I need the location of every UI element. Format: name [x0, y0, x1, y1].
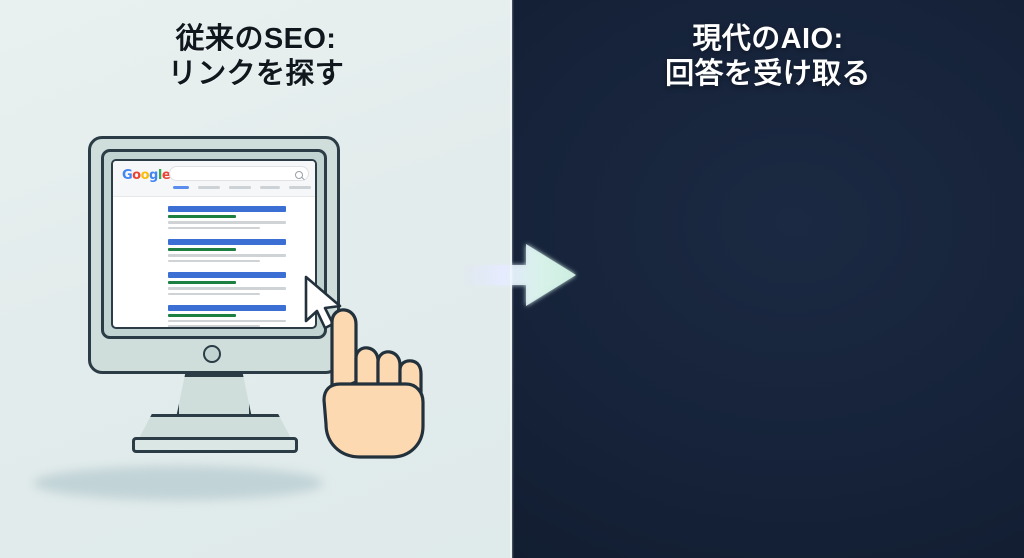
monitor-stand-foot: [132, 437, 298, 453]
monitor-shadow: [33, 466, 323, 500]
browser-screen: Google: [111, 159, 317, 329]
logo-letter: G: [122, 168, 132, 183]
result-snippet-line: [168, 325, 260, 327]
result-url-bar: [168, 215, 236, 218]
result-title-bar[interactable]: [168, 206, 286, 212]
left-panel-title: 従来のSEO: リンクを探す: [0, 22, 512, 93]
logo-letter: g: [149, 168, 158, 183]
monitor-stand-neck: [176, 374, 252, 418]
search-tabs: [173, 186, 311, 189]
google-logo-icon: Google: [122, 168, 170, 183]
search-result-item[interactable]: [168, 239, 315, 262]
result-url-bar: [168, 248, 236, 251]
tab-maps[interactable]: [289, 186, 311, 189]
slide-canvas: 従来のSEO: リンクを探す Google: [0, 0, 1024, 558]
left-panel-traditional-seo: 従来のSEO: リンクを探す Google: [0, 0, 512, 558]
result-url-bar: [168, 314, 236, 317]
result-title-bar[interactable]: [168, 272, 286, 278]
monitor-power-button[interactable]: [203, 345, 221, 363]
search-result-item[interactable]: [168, 272, 315, 295]
tab-videos[interactable]: [229, 186, 251, 189]
result-snippet-line: [168, 287, 286, 289]
monitor-bezel: Google: [101, 149, 327, 339]
search-icon[interactable]: [295, 171, 303, 179]
logo-letter: o: [132, 168, 140, 183]
tab-images[interactable]: [198, 186, 220, 189]
result-snippet-line: [168, 227, 260, 229]
search-input[interactable]: [169, 166, 309, 181]
result-snippet-line: [168, 260, 260, 262]
logo-letter: o: [141, 168, 149, 183]
search-result-item[interactable]: [168, 305, 315, 328]
right-panel-modern-aio: 現代のAIO: 回答を受け取る これも、要約回答をAIによる願いです: [512, 0, 1024, 558]
result-title-bar[interactable]: [168, 239, 286, 245]
result-snippet-line: [168, 221, 286, 223]
search-result-item[interactable]: [168, 206, 315, 229]
result-url-bar: [168, 281, 236, 284]
right-panel-title: 現代のAIO: 回答を受け取る: [512, 22, 1024, 93]
result-snippet-line: [168, 254, 286, 256]
result-snippet-line: [168, 293, 260, 295]
browser-header: Google: [113, 161, 315, 197]
search-results-list: [113, 197, 315, 329]
result-snippet-line: [168, 320, 286, 322]
tab-all[interactable]: [173, 186, 189, 189]
result-title-bar[interactable]: [168, 305, 286, 311]
tab-news[interactable]: [260, 186, 280, 189]
pointing-hand-icon: [302, 300, 428, 460]
arrow-right-icon: [462, 232, 580, 318]
